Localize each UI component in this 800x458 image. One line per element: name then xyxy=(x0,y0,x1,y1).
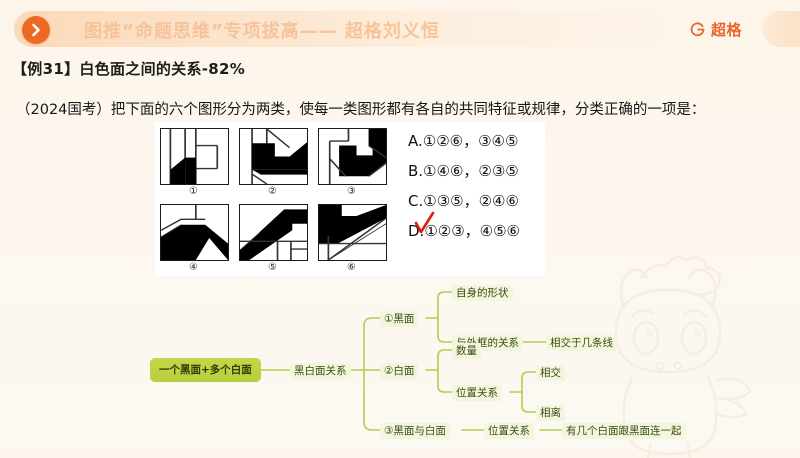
figure-label: ④ xyxy=(160,262,227,274)
mindmap-branch-2-leaf-1: 相交 xyxy=(536,365,565,381)
chevron-right-icon[interactable] xyxy=(22,16,50,44)
header-title: 图推“命题思维”专项拔高—— 超格刘义恒 xyxy=(84,17,440,43)
answer-options: A.①②⑥，③④⑤ B.①④⑥，②③⑤ C.①③⑤，②④⑥ D.①②③，④⑤⑥ xyxy=(408,130,520,250)
figure-4-graphic xyxy=(160,204,229,261)
figure-item-1: ① xyxy=(160,128,227,198)
figure-1-graphic xyxy=(160,128,229,185)
mindmap-branch-3: ③黑面与白面 xyxy=(380,423,450,439)
mindmap-branch-1-child-1: 自身的形状 xyxy=(452,285,513,301)
figure-item-2: ② xyxy=(239,128,306,198)
figure-item-3: ③ xyxy=(318,128,385,198)
figure-row-bottom: ④ ⑤ ⑥ xyxy=(160,204,385,274)
mindmap-branch-3-leaf-1: 有几个白面跟黑面连一起 xyxy=(562,423,686,439)
mindmap-branch-3-child-1: 位置关系 xyxy=(484,423,534,439)
slide-background: 图推“命题思维”专项拔高—— 超格刘义恒 超格 【例31】白色面之间的关系-82… xyxy=(0,0,800,450)
brand-logo: 超格 xyxy=(689,19,742,40)
mindmap: 一个黑面+多个白面 黑白面关系 ①黑面 自身的形状 与外框的关系 相交于几条线 … xyxy=(150,282,670,442)
figure-label: ⑥ xyxy=(318,262,385,274)
mindmap-root-node: 一个黑面+多个白面 xyxy=(150,358,261,382)
figure-3-graphic xyxy=(318,128,387,185)
header-pill-right-background xyxy=(762,11,800,47)
option-d[interactable]: D.①②③，④⑤⑥ xyxy=(408,220,520,241)
figure-item-4: ④ xyxy=(160,204,227,274)
figure-item-6: ⑥ xyxy=(318,204,385,274)
option-a[interactable]: A.①②⑥，③④⑤ xyxy=(408,130,520,151)
mindmap-branch-1-leaf-1: 相交于几条线 xyxy=(546,335,617,351)
mindmap-branch-1: ①黑面 xyxy=(380,311,418,327)
chevron-right-glyph xyxy=(28,22,44,38)
option-c[interactable]: C.①③⑤，②④⑥ xyxy=(408,190,520,211)
mindmap-branch-2-leaf-2: 相离 xyxy=(536,405,565,421)
brand-name: 超格 xyxy=(711,19,742,40)
figure-item-5: ⑤ xyxy=(239,204,306,274)
figure-label: ① xyxy=(160,186,227,198)
figure-row-top: ① ② xyxy=(160,128,385,198)
figure-6-graphic xyxy=(318,204,387,261)
mindmap-trunk-node: 黑白面关系 xyxy=(290,363,351,379)
mindmap-branch-2-child-2: 位置关系 xyxy=(452,385,502,401)
question-text: （2024国考）把下面的六个图形分为两类，使每一类图形都有各自的共同特征或规律，… xyxy=(16,98,705,119)
figure-5-graphic xyxy=(239,204,308,261)
figure-label: ⑤ xyxy=(239,262,306,274)
figure-label: ③ xyxy=(318,186,385,198)
figure-label: ② xyxy=(239,186,306,198)
mindmap-branch-2: ②白面 xyxy=(380,363,418,379)
g-logo-icon xyxy=(689,21,706,38)
option-d-label: D.①②③，④⑤⑥ xyxy=(408,222,520,240)
example-title: 【例31】白色面之间的关系-82% xyxy=(12,58,245,79)
slide-header: 图推“命题思维”专项拔高—— 超格刘义恒 超格 xyxy=(0,8,800,52)
option-b[interactable]: B.①④⑥，②③⑤ xyxy=(408,160,520,181)
mindmap-branch-2-child-1: 数量 xyxy=(452,343,481,359)
figure-2-graphic xyxy=(239,128,308,185)
figure-grid: ① ② xyxy=(160,128,385,274)
